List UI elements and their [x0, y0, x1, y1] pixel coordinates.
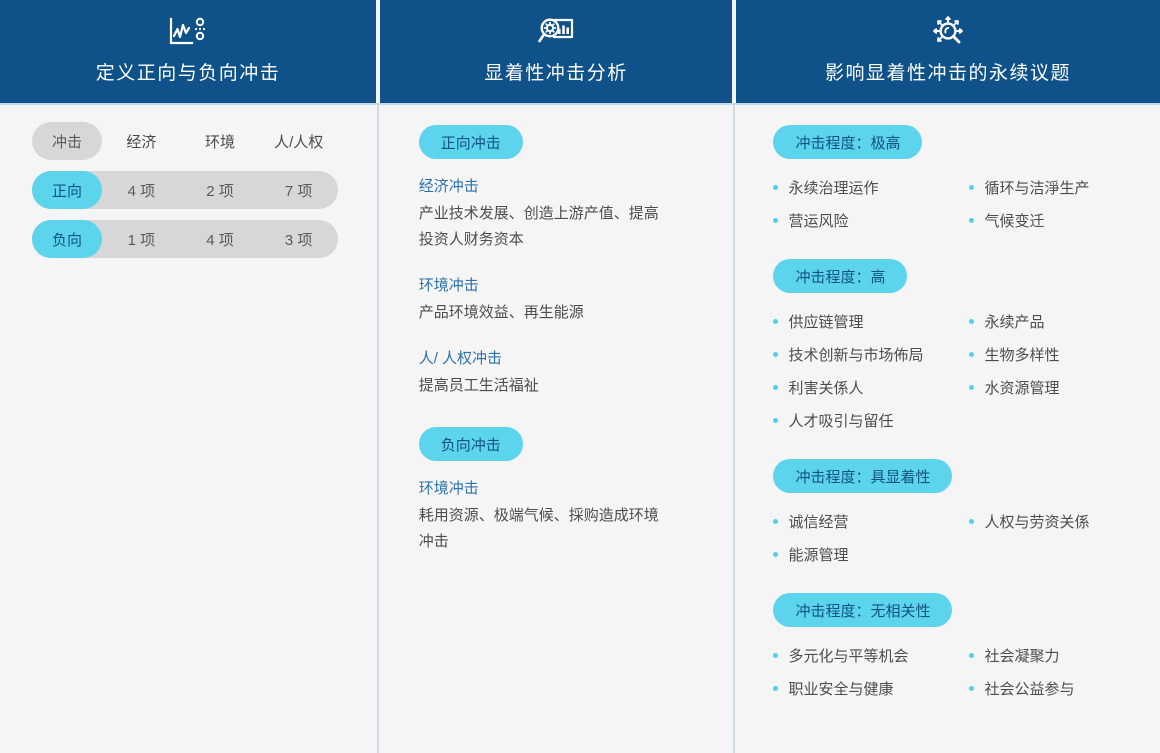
- list-item-label: 永续治理运作: [788, 177, 878, 198]
- list-item-label: 社会凝聚力: [984, 645, 1059, 666]
- bullet-dot-icon: [969, 519, 974, 524]
- bullet-dot-icon: [773, 653, 778, 658]
- matrix-cell: 2 项: [181, 180, 260, 201]
- severity-items-left: 诚信经营 能源管理: [773, 505, 969, 571]
- column-analysis: 正向冲击 经济冲击 产业技术发展、创造上游产值、提高投资人财务资本 环境冲击 产…: [379, 103, 734, 753]
- bullet-dot-icon: [773, 552, 778, 557]
- matrix-cell: 4 项: [181, 229, 260, 250]
- list-item: 能源管理: [773, 538, 969, 571]
- column-definition: 冲击 经济 环境 人/人权 正向 4 项 2 项 7 项 负向 1 项 4 项 …: [0, 103, 377, 753]
- severity-section-none: 冲击程度：无相关性 多元化与平等机会 职业安全与健康 社会凝聚力 社会公益参与: [773, 593, 1160, 705]
- bullet-dot-icon: [969, 653, 974, 658]
- matrix-col-header-environment: 环境: [181, 131, 260, 152]
- list-item-label: 能源管理: [788, 544, 848, 565]
- impact-group-title: 环境冲击: [419, 274, 734, 295]
- header-column-analysis: 显着性冲击分析: [380, 0, 732, 103]
- magnifier-gear-bar-chart-icon: [535, 12, 577, 52]
- list-item: 诚信经营: [773, 505, 969, 538]
- section-spacer: [773, 451, 1160, 459]
- impact-group-body: 提高员工生活福祉: [419, 373, 671, 399]
- magnifier-radiating-arrows-icon: [925, 12, 971, 52]
- header-title: 定义正向与负向冲击: [96, 58, 281, 85]
- severity-items-right: 社会凝聚力 社会公益参与: [969, 639, 1113, 705]
- severity-items-grid: 永续治理运作 营运风险 循环与洁淨生产 气候变迁: [773, 171, 1113, 237]
- bullet-dot-icon: [969, 352, 974, 357]
- severity-pill: 冲击程度：无相关性: [773, 593, 952, 627]
- bullet-dot-icon: [969, 218, 974, 223]
- list-item: 生物多样性: [969, 338, 1113, 371]
- header-column-definition: 定义正向与负向冲击: [0, 0, 376, 103]
- matrix-cell: 3 项: [259, 229, 338, 250]
- bullet-dot-icon: [773, 519, 778, 524]
- list-item: 技术创新与市场佈局: [773, 338, 969, 371]
- list-item: 永续产品: [969, 305, 1113, 338]
- list-item: 供应链管理: [773, 305, 969, 338]
- list-item: 利害关係人: [773, 371, 969, 404]
- bullet-dot-icon: [773, 185, 778, 190]
- matrix-col-header-economy: 经济: [102, 131, 181, 152]
- header-band: 定义正向与负向冲击 显着性冲击分析: [0, 0, 1160, 103]
- list-item: 社会凝聚力: [969, 639, 1113, 672]
- positive-impact-pill: 正向冲击: [419, 125, 523, 159]
- list-item: 循环与洁淨生产: [969, 171, 1113, 204]
- bullet-dot-icon: [773, 686, 778, 691]
- severity-pill: 冲击程度：具显着性: [773, 459, 952, 493]
- list-item-label: 社会公益参与: [984, 678, 1074, 699]
- list-item-label: 职业安全与健康: [788, 678, 893, 699]
- list-item-label: 永续产品: [984, 311, 1044, 332]
- impact-group: 环境冲击 耗用资源、极端气候、採购造成环境冲击: [419, 477, 734, 555]
- table-row: 负向 1 项 4 项 3 项: [32, 220, 338, 258]
- list-item: 人才吸引与留任: [773, 404, 969, 437]
- severity-items-right: 永续产品 生物多样性 水资源管理: [969, 305, 1113, 437]
- matrix-cell: 1 项: [102, 229, 181, 250]
- list-item: 营运风险: [773, 204, 969, 237]
- list-item: 职业安全与健康: [773, 672, 969, 705]
- section-spacer: [773, 251, 1160, 259]
- impact-group-title: 环境冲击: [419, 477, 734, 498]
- header-column-issues: 影响显着性冲击的永续议题: [736, 0, 1160, 103]
- body-band: 冲击 经济 环境 人/人权 正向 4 项 2 项 7 项 负向 1 项 4 项 …: [0, 103, 1160, 753]
- severity-section-extreme: 冲击程度：极高 永续治理运作 营运风险 循环与洁淨生产 气候变迁: [773, 125, 1160, 237]
- list-item: 社会公益参与: [969, 672, 1113, 705]
- matrix-row-label-negative: 负向: [32, 220, 102, 258]
- severity-section-high: 冲击程度：高 供应链管理 技术创新与市场佈局 利害关係人 人才吸引与留任 永续产…: [773, 259, 1160, 437]
- impact-group-body: 耗用资源、极端气候、採购造成环境冲击: [419, 503, 671, 555]
- impact-group: 人/ 人权冲击 提高员工生活福祉: [419, 347, 734, 399]
- list-item: 水资源管理: [969, 371, 1113, 404]
- list-item: 人权与劳资关係: [969, 505, 1113, 538]
- list-item-label: 技术创新与市场佈局: [788, 344, 923, 365]
- table-row: 正向 4 项 2 项 7 项: [32, 171, 338, 209]
- severity-items-left: 供应链管理 技术创新与市场佈局 利害关係人 人才吸引与留任: [773, 305, 969, 437]
- list-item-label: 人权与劳资关係: [984, 511, 1089, 532]
- severity-items-right: 循环与洁淨生产 气候变迁: [969, 171, 1113, 237]
- list-item: 气候变迁: [969, 204, 1113, 237]
- severity-items-grid: 多元化与平等机会 职业安全与健康 社会凝聚力 社会公益参与: [773, 639, 1113, 705]
- impact-group-title: 人/ 人权冲击: [419, 347, 734, 368]
- bullet-dot-icon: [969, 385, 974, 390]
- list-item: 永续治理运作: [773, 171, 969, 204]
- bullet-dot-icon: [773, 352, 778, 357]
- list-item-label: 生物多样性: [984, 344, 1059, 365]
- severity-items-grid: 供应链管理 技术创新与市场佈局 利害关係人 人才吸引与留任 永续产品 生物多样性…: [773, 305, 1113, 437]
- impact-group-body: 产业技术发展、创造上游产值、提高投资人财务资本: [419, 201, 671, 253]
- list-item-label: 诚信经营: [788, 511, 848, 532]
- header-title: 影响显着性冲击的永续议题: [825, 58, 1071, 85]
- section-spacer: [773, 585, 1160, 593]
- list-item-label: 循环与洁淨生产: [984, 177, 1089, 198]
- bullet-dot-icon: [773, 218, 778, 223]
- list-item: 多元化与平等机会: [773, 639, 969, 672]
- matrix-header-row: 冲击 经济 环境 人/人权: [32, 122, 338, 160]
- severity-items-left: 永续治理运作 营运风险: [773, 171, 969, 237]
- positive-impact-section: 正向冲击: [419, 125, 734, 159]
- bullet-dot-icon: [969, 686, 974, 691]
- negative-impact-section: 负向冲击 环境冲击 耗用资源、极端气候、採购造成环境冲击: [419, 427, 734, 555]
- list-item-label: 气候变迁: [984, 210, 1044, 231]
- impact-group-body: 产品环境效益、再生能源: [419, 300, 671, 326]
- impact-group: 经济冲击 产业技术发展、创造上游产值、提高投资人财务资本: [419, 175, 734, 253]
- bullet-dot-icon: [969, 319, 974, 324]
- header-underline: [0, 103, 1160, 105]
- severity-items-grid: 诚信经营 能源管理 人权与劳资关係: [773, 505, 1113, 571]
- severity-section-significant: 冲击程度：具显着性 诚信经营 能源管理 人权与劳资关係: [773, 459, 1160, 571]
- list-item-label: 营运风险: [788, 210, 848, 231]
- bullet-dot-icon: [773, 418, 778, 423]
- list-item-label: 利害关係人: [788, 377, 863, 398]
- line-chart-analysis-icon: [168, 12, 208, 52]
- impact-group-title: 经济冲击: [419, 175, 734, 196]
- negative-impact-pill: 负向冲击: [419, 427, 523, 461]
- impact-group: 环境冲击 产品环境效益、再生能源: [419, 274, 734, 326]
- severity-pill: 冲击程度：极高: [773, 125, 922, 159]
- header-title: 显着性冲击分析: [484, 58, 628, 85]
- matrix-row-label-positive: 正向: [32, 171, 102, 209]
- bullet-dot-icon: [773, 385, 778, 390]
- matrix-cell: 7 项: [259, 180, 338, 201]
- severity-pill: 冲击程度：高: [773, 259, 907, 293]
- list-item-label: 人才吸引与留任: [788, 410, 893, 431]
- impact-matrix-table: 冲击 经济 环境 人/人权 正向 4 项 2 项 7 项 负向 1 项 4 项 …: [32, 122, 338, 258]
- list-item-label: 供应链管理: [788, 311, 863, 332]
- matrix-corner-label: 冲击: [32, 122, 102, 160]
- column-issues: 冲击程度：极高 永续治理运作 营运风险 循环与洁淨生产 气候变迁: [735, 103, 1160, 753]
- bullet-dot-icon: [773, 319, 778, 324]
- severity-items-right: 人权与劳资关係: [969, 505, 1113, 571]
- matrix-cell: 4 项: [102, 180, 181, 201]
- severity-items-left: 多元化与平等机会 职业安全与健康: [773, 639, 969, 705]
- list-item-label: 水资源管理: [984, 377, 1059, 398]
- list-item-label: 多元化与平等机会: [788, 645, 908, 666]
- matrix-col-header-human-rights: 人/人权: [259, 131, 338, 152]
- bullet-dot-icon: [969, 185, 974, 190]
